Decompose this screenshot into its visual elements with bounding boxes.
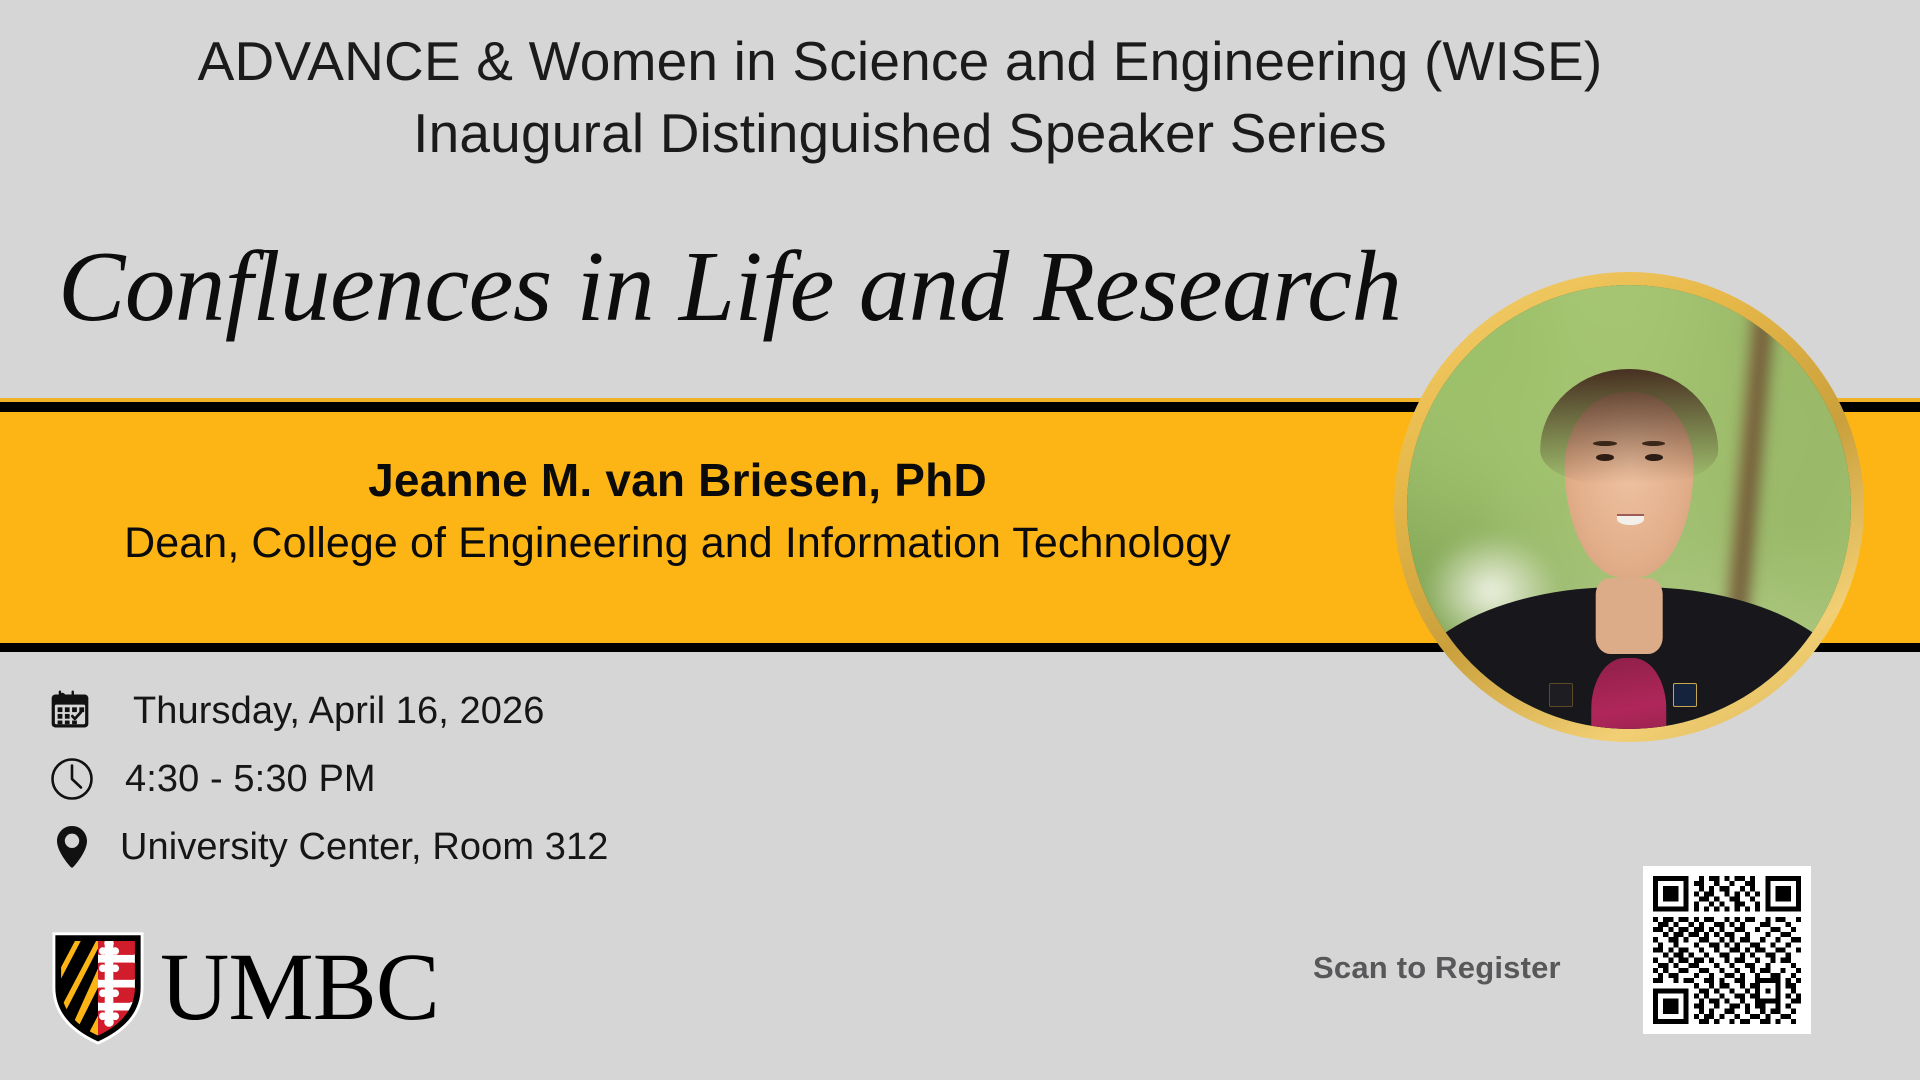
header-line-1: ADVANCE & Women in Science and Engineeri… <box>0 26 1800 98</box>
speaker-portrait-frame <box>1394 272 1864 742</box>
flyer-header: ADVANCE & Women in Science and Engineeri… <box>0 26 1800 169</box>
event-location: University Center, Room 312 <box>106 826 608 869</box>
portrait-lapel-pin-maryland <box>1549 683 1573 707</box>
speaker-block: Jeanne M. van Briesen, PhD Dean, College… <box>0 455 1355 567</box>
portrait-lapel-pin-umbc <box>1673 683 1697 707</box>
detail-row-location: University Center, Room 312 <box>48 814 608 880</box>
portrait-mouth <box>1617 514 1644 525</box>
event-date: Thursday, April 16, 2026 <box>106 690 545 733</box>
maryland-shield-icon <box>50 930 146 1050</box>
speaker-name: Jeanne M. van Briesen, PhD <box>0 455 1355 506</box>
detail-row-time: 4:30 - 5:30 PM <box>48 746 608 812</box>
clock-icon <box>48 755 106 803</box>
event-details: Thursday, April 16, 2026 4:30 - 5:30 PM … <box>48 678 608 882</box>
calendar-icon <box>48 689 106 733</box>
umbc-wordmark: UMBC <box>160 939 439 1035</box>
header-line-2: Inaugural Distinguished Speaker Series <box>0 98 1800 170</box>
talk-title: Confluences in Life and Research <box>58 236 1402 337</box>
event-flyer: ADVANCE & Women in Science and Engineeri… <box>0 0 1920 1080</box>
scan-to-register-label: Scan to Register <box>1313 950 1561 986</box>
qr-code[interactable] <box>1643 866 1811 1034</box>
event-time: 4:30 - 5:30 PM <box>106 758 376 801</box>
speaker-role: Dean, College of Engineering and Informa… <box>0 520 1355 567</box>
portrait-neck <box>1596 578 1663 653</box>
location-pin-icon <box>48 821 106 873</box>
detail-row-date: Thursday, April 16, 2026 <box>48 678 608 744</box>
speaker-portrait <box>1407 285 1851 729</box>
umbc-logo: UMBC <box>50 930 439 1050</box>
